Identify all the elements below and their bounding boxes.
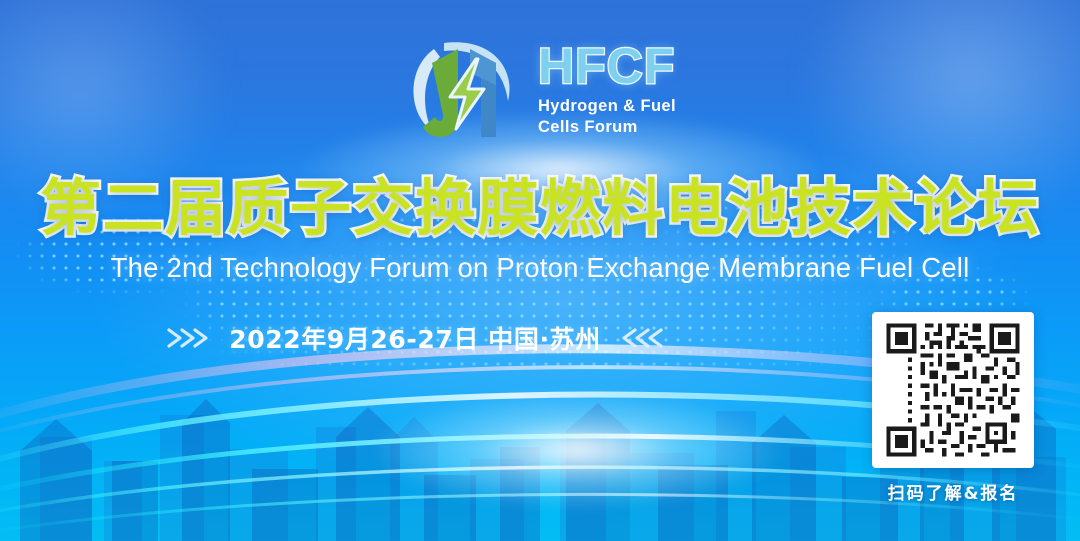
logo-text-block: HFCF Hydrogen & Fuel Cells Forum [538,41,676,137]
hfcf-h-lightning-logo-icon [404,33,522,145]
conference-banner: HFCF Hydrogen & Fuel Cells Forum 第二届质子交换… [0,0,1080,541]
logo-subtitle-line-1: Hydrogen & Fuel [538,96,676,116]
date-location-text: 2022年9月26-27日 中国·苏州 [229,320,601,356]
logo-lockup: HFCF Hydrogen & Fuel Cells Forum [0,30,1080,148]
qr-caption: 扫码了解&报名 [872,479,1034,504]
logo-acronym: HFCF [538,41,676,91]
qr-registration-block[interactable]: 扫码了解&报名 [872,312,1034,504]
main-title-chinese: 第二届质子交换膜燃料电池技术论坛 [0,158,1080,247]
logo-subtitle-line-2: Cells Forum [538,117,676,137]
qr-code-icon[interactable] [879,319,1027,461]
chevron-right-triple-icon [165,325,211,351]
main-title-english: The 2nd Technology Forum on Proton Excha… [0,252,1080,284]
qr-code-card[interactable] [872,312,1034,468]
chevron-left-triple-icon [619,325,665,351]
